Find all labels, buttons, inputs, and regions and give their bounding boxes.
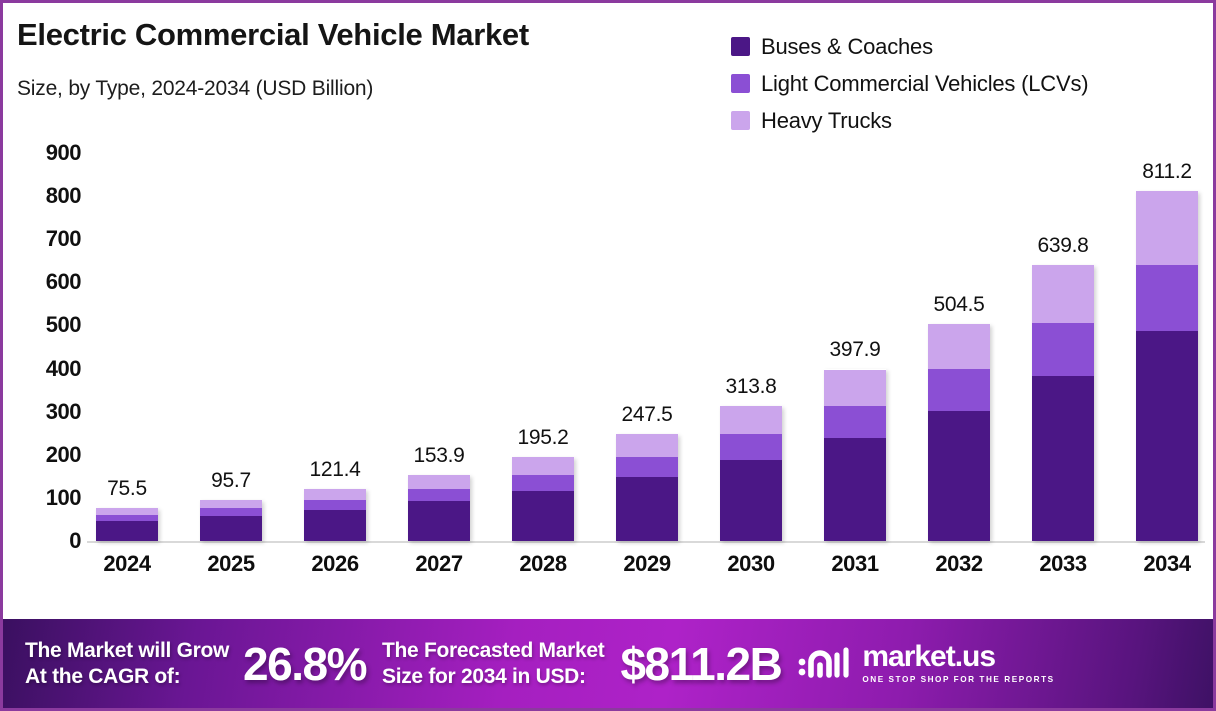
bar-segment[interactable] <box>1136 265 1198 331</box>
bar-stack[interactable] <box>1136 191 1198 541</box>
page-subtitle: Size, by Type, 2024-2034 (USD Billion) <box>17 77 373 101</box>
chart-plot-area: 9008007006005004003002001000 75.595.7121… <box>3 153 1213 598</box>
chart-legend: Buses & CoachesLight Commercial Vehicles… <box>731 28 1201 139</box>
y-axis-tick: 600 <box>7 269 81 295</box>
bar-segment[interactable] <box>512 457 574 475</box>
cagr-label-line1: The Market will Grow <box>25 638 229 664</box>
cagr-value: 26.8% <box>243 637 366 691</box>
bar-segment[interactable] <box>512 491 574 541</box>
bar-segment[interactable] <box>96 521 158 541</box>
bar-segment[interactable] <box>408 501 470 541</box>
legend-swatch-buses-coaches <box>731 37 750 56</box>
bar-segment[interactable] <box>200 508 262 516</box>
bar-value-label: 504.5 <box>933 293 984 317</box>
y-axis-tick: 800 <box>7 183 81 209</box>
bar-stack[interactable] <box>1032 265 1094 541</box>
legend-swatch-heavy-trucks <box>731 111 750 130</box>
bar-segment[interactable] <box>720 406 782 434</box>
bar-segment[interactable] <box>616 477 678 541</box>
forecast-size-value: $811.2B <box>620 637 781 691</box>
bar-column[interactable]: 121.4 <box>299 153 371 541</box>
bar-column[interactable]: 95.7 <box>195 153 267 541</box>
bar-segment[interactable] <box>96 508 158 515</box>
x-axis-tick: 2027 <box>403 551 475 591</box>
bar-stack[interactable] <box>408 475 470 541</box>
bar-stack[interactable] <box>720 406 782 541</box>
y-axis-tick: 100 <box>7 485 81 511</box>
bar-segment[interactable] <box>1136 191 1198 264</box>
bar-segment[interactable] <box>1032 376 1094 542</box>
y-axis-tick: 900 <box>7 140 81 166</box>
bar-segment[interactable] <box>200 500 262 509</box>
bar-segment[interactable] <box>928 369 990 410</box>
y-axis: 9008007006005004003002001000 <box>3 153 81 545</box>
logo-wordmark: market.us <box>862 642 1054 672</box>
bar-segment[interactable] <box>304 489 366 500</box>
bar-segment[interactable] <box>928 324 990 370</box>
legend-item[interactable]: Buses & Coaches <box>731 28 1201 65</box>
legend-swatch-lcv <box>731 74 750 93</box>
legend-item-label: Light Commercial Vehicles (LCVs) <box>761 71 1088 97</box>
bar-segment[interactable] <box>928 411 990 541</box>
bar-segment[interactable] <box>616 457 678 477</box>
x-axis-baseline <box>87 541 1205 543</box>
bar-column[interactable]: 504.5 <box>923 153 995 541</box>
infographic-frame: Electric Commercial Vehicle Market Size,… <box>0 0 1216 711</box>
page-title: Electric Commercial Vehicle Market <box>17 17 529 53</box>
y-axis-tick: 500 <box>7 312 81 338</box>
x-axis-tick: 2032 <box>923 551 995 591</box>
bar-stack[interactable] <box>96 508 158 541</box>
bar-segment[interactable] <box>304 510 366 541</box>
bar-stack[interactable] <box>200 500 262 541</box>
bar-segment[interactable] <box>408 475 470 489</box>
bar-value-label: 247.5 <box>621 403 672 427</box>
x-axis-tick: 2025 <box>195 551 267 591</box>
market-us-logo-mark-icon <box>797 642 853 685</box>
bar-value-label: 811.2 <box>1142 160 1192 184</box>
bar-segment[interactable] <box>304 500 366 510</box>
x-axis: 2024202520262027202820292030203120322033… <box>91 551 1203 591</box>
bar-value-label: 639.8 <box>1037 234 1088 258</box>
x-axis-tick: 2031 <box>819 551 891 591</box>
x-axis-tick: 2029 <box>611 551 683 591</box>
bar-segment[interactable] <box>512 475 574 491</box>
x-axis-tick: 2024 <box>91 551 163 591</box>
bar-segment[interactable] <box>1032 265 1094 323</box>
bar-segment[interactable] <box>720 434 782 460</box>
bar-column[interactable]: 639.8 <box>1027 153 1099 541</box>
bar-segment[interactable] <box>408 489 470 502</box>
legend-item[interactable]: Light Commercial Vehicles (LCVs) <box>731 65 1201 102</box>
legend-item[interactable]: Heavy Trucks <box>731 102 1201 139</box>
legend-item-label: Buses & Coaches <box>761 34 933 60</box>
bar-segment[interactable] <box>720 460 782 541</box>
bar-value-label: 313.8 <box>725 375 776 399</box>
x-axis-tick: 2034 <box>1131 551 1203 591</box>
bar-column[interactable]: 811.2 <box>1131 153 1203 541</box>
y-axis-tick: 400 <box>7 356 81 382</box>
x-axis-tick: 2033 <box>1027 551 1099 591</box>
bar-column[interactable]: 153.9 <box>403 153 475 541</box>
bar-column[interactable]: 313.8 <box>715 153 787 541</box>
bar-segment[interactable] <box>824 370 886 406</box>
bar-column[interactable]: 75.5 <box>91 153 163 541</box>
bar-segment[interactable] <box>824 438 886 541</box>
bar-value-label: 397.9 <box>829 338 880 362</box>
bar-segment[interactable] <box>824 406 886 439</box>
bar-column[interactable]: 247.5 <box>611 153 683 541</box>
cagr-label: The Market will Grow At the CAGR of: <box>25 638 229 690</box>
bar-stack[interactable] <box>304 489 366 541</box>
bar-stack[interactable] <box>512 457 574 541</box>
y-axis-tick: 300 <box>7 399 81 425</box>
y-axis-tick: 700 <box>7 226 81 252</box>
bar-group: 75.595.7121.4153.9195.2247.5313.8397.950… <box>91 153 1203 541</box>
footer-banner: The Market will Grow At the CAGR of: 26.… <box>3 619 1213 708</box>
bar-value-label: 75.5 <box>107 477 147 501</box>
forecast-size-label: The Forecasted Market Size for 2034 in U… <box>382 638 604 690</box>
bar-column[interactable]: 195.2 <box>507 153 579 541</box>
bar-segment[interactable] <box>1032 323 1094 375</box>
bar-stack[interactable] <box>928 324 990 541</box>
bar-value-label: 121.4 <box>309 458 360 482</box>
y-axis-tick: 200 <box>7 442 81 468</box>
bar-value-label: 153.9 <box>413 444 464 468</box>
cagr-label-line2: At the CAGR of: <box>25 664 229 690</box>
legend-item-label: Heavy Trucks <box>761 108 892 134</box>
logo-tagline: ONE STOP SHOP FOR THE REPORTS <box>862 676 1054 684</box>
x-axis-tick: 2030 <box>715 551 787 591</box>
bar-column[interactable]: 397.9 <box>819 153 891 541</box>
bar-stack[interactable] <box>824 369 886 541</box>
x-axis-tick: 2026 <box>299 551 371 591</box>
bar-value-label: 95.7 <box>211 469 251 493</box>
bar-value-label: 195.2 <box>517 426 568 450</box>
bar-stack[interactable] <box>616 434 678 541</box>
bar-segment[interactable] <box>200 516 262 541</box>
x-axis-tick: 2028 <box>507 551 579 591</box>
size-label-line2: Size for 2034 in USD: <box>382 664 604 690</box>
logo-text: market.us ONE STOP SHOP FOR THE REPORTS <box>862 642 1054 684</box>
bar-segment[interactable] <box>616 434 678 456</box>
bar-segment[interactable] <box>1136 331 1198 541</box>
brand-logo[interactable]: market.us ONE STOP SHOP FOR THE REPORTS <box>797 642 1054 685</box>
y-axis-tick: 0 <box>7 528 81 554</box>
size-label-line1: The Forecasted Market <box>382 638 604 664</box>
